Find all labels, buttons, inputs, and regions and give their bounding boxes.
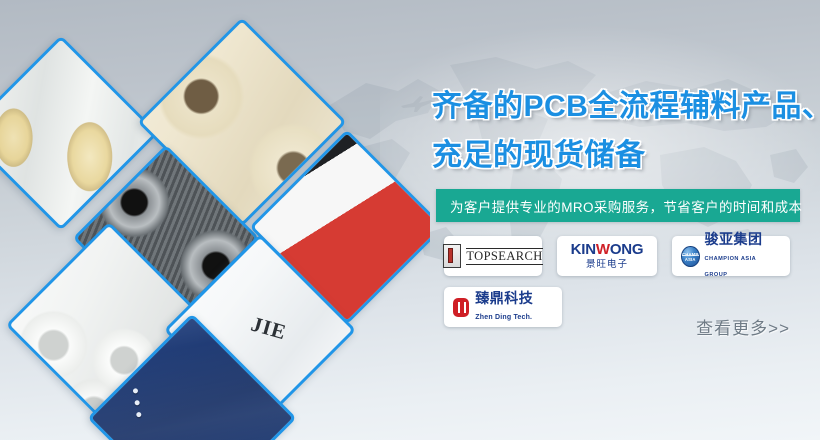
kinwong-chinese-name: 景旺电子 <box>571 260 644 270</box>
topsearch-lockup: TOPSEARCH <box>443 244 542 268</box>
kinwong-word-part1: KIN <box>571 241 596 258</box>
kinwong-word-part2: W <box>596 241 610 258</box>
champion-asia-text: 骏亚集团 CHAMPION ASIA GROUP <box>705 232 781 280</box>
champion-asia-globe-text: CHAMPION ASIA <box>682 252 699 262</box>
partner-logo-topsearch[interactable]: TOPSEARCH <box>444 236 542 276</box>
partner-logo-champion-asia[interactable]: CHAMPION ASIA 骏亚集团 CHAMPION ASIA GROUP <box>672 236 790 276</box>
banner-copy: 齐备的PCB全流程辅料产品、 充足的现货储备 为客户提供专业的MRO采购服务，节… <box>430 0 820 440</box>
kinwong-lockup: KINWONG 景旺电子 <box>571 242 644 270</box>
zhen-ding-mark-icon <box>453 298 469 317</box>
kinwong-word-part3: ONG <box>610 241 644 258</box>
partner-logo-kinwong[interactable]: KINWONG 景旺电子 <box>557 236 657 276</box>
kinwong-wordmark: KINWONG <box>571 242 644 257</box>
zhen-ding-english-name: Zhen Ding Tech. <box>475 314 532 321</box>
banner-subtitle-bar: 为客户提供专业的MRO采购服务，节省客户的时间和成本 <box>436 189 800 222</box>
product-collage: JIE <box>0 0 430 440</box>
view-more-link[interactable]: 查看更多>> <box>696 314 790 339</box>
promo-banner: JIE 齐备的PCB全流程辅料产品、 充足的现货储备 为客户提供专业的MRO采购… <box>0 0 820 440</box>
zhen-ding-text: 臻鼎科技 Zhen Ding Tech. <box>475 291 553 323</box>
banner-subtitle-text: 为客户提供专业的MRO采购服务，节省客户的时间和成本 <box>436 196 802 216</box>
champion-asia-chinese-name: 骏亚集团 <box>705 231 763 247</box>
headline-line-1: 齐备的PCB全流程辅料产品、 <box>432 90 820 123</box>
champion-asia-globe-icon: CHAMPION ASIA <box>681 246 700 267</box>
zhen-ding-lockup: 臻鼎科技 Zhen Ding Tech. <box>453 291 553 323</box>
topsearch-mark-icon <box>443 244 461 268</box>
partner-logo-row-1: TOPSEARCH KINWONG 景旺电子 CHAMPION ASIA <box>444 236 816 276</box>
champion-asia-english-name: CHAMPION ASIA GROUP <box>705 256 756 278</box>
headline-line-2: 充足的现货储备 <box>432 131 820 180</box>
zhen-ding-chinese-name: 臻鼎科技 <box>475 290 533 306</box>
partner-logo-zhen-ding[interactable]: 臻鼎科技 Zhen Ding Tech. <box>444 287 562 327</box>
champion-asia-lockup: CHAMPION ASIA 骏亚集团 CHAMPION ASIA GROUP <box>681 232 781 280</box>
banner-headline: 齐备的PCB全流程辅料产品、 充足的现货储备 <box>432 82 820 180</box>
jie-label: JIE <box>248 312 289 346</box>
topsearch-wordmark: TOPSEARCH <box>466 248 542 265</box>
